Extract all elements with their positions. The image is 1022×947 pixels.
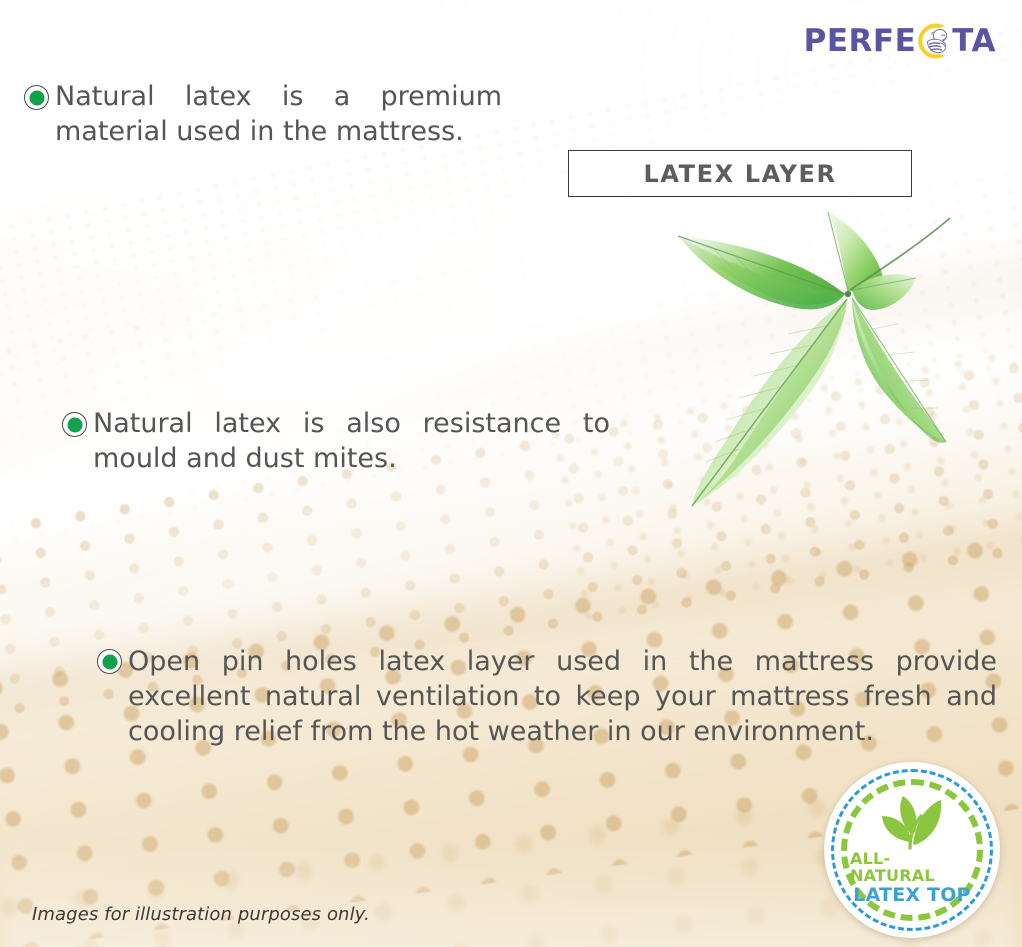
badge-line-1: ALL-NATURAL bbox=[850, 851, 974, 885]
badge-inner-face: ALL-NATURAL LATEX TOP bbox=[850, 788, 974, 912]
bullet-item-1-text: Natural latex is a premium material used… bbox=[49, 79, 502, 149]
bullet-item-2-text: Natural latex is also resistance to moul… bbox=[87, 406, 610, 476]
crescent-moon-sleeping-baby-icon bbox=[914, 21, 954, 61]
green-bullet-icon bbox=[97, 649, 122, 674]
logo-text-left: PERFE bbox=[804, 26, 917, 57]
bullet-item-3: Open pin holes latex layer used in the m… bbox=[97, 644, 997, 749]
footnote-disclaimer: Images for illustration purposes only. bbox=[32, 904, 370, 925]
logo-text-right: TA bbox=[952, 26, 996, 57]
page-title: LATEX LAYER bbox=[643, 160, 836, 188]
three-leaves-icon bbox=[877, 792, 947, 850]
all-natural-latex-top-badge: ALL-NATURAL LATEX TOP bbox=[824, 762, 1000, 938]
green-bullet-icon bbox=[62, 412, 87, 437]
perfecta-logo: PERFE bbox=[804, 18, 996, 64]
bullet-item-1: Natural latex is a premium material used… bbox=[24, 79, 502, 149]
green-bullet-icon bbox=[24, 85, 49, 110]
latex-layer-title-box: LATEX LAYER bbox=[568, 150, 912, 197]
latex-layer-poster: PERFE bbox=[0, 0, 1022, 947]
badge-line-2: LATEX TOP bbox=[853, 885, 970, 906]
bullet-item-3-text: Open pin holes latex layer used in the m… bbox=[122, 644, 997, 749]
bullet-item-2: Natural latex is also resistance to moul… bbox=[62, 406, 610, 476]
